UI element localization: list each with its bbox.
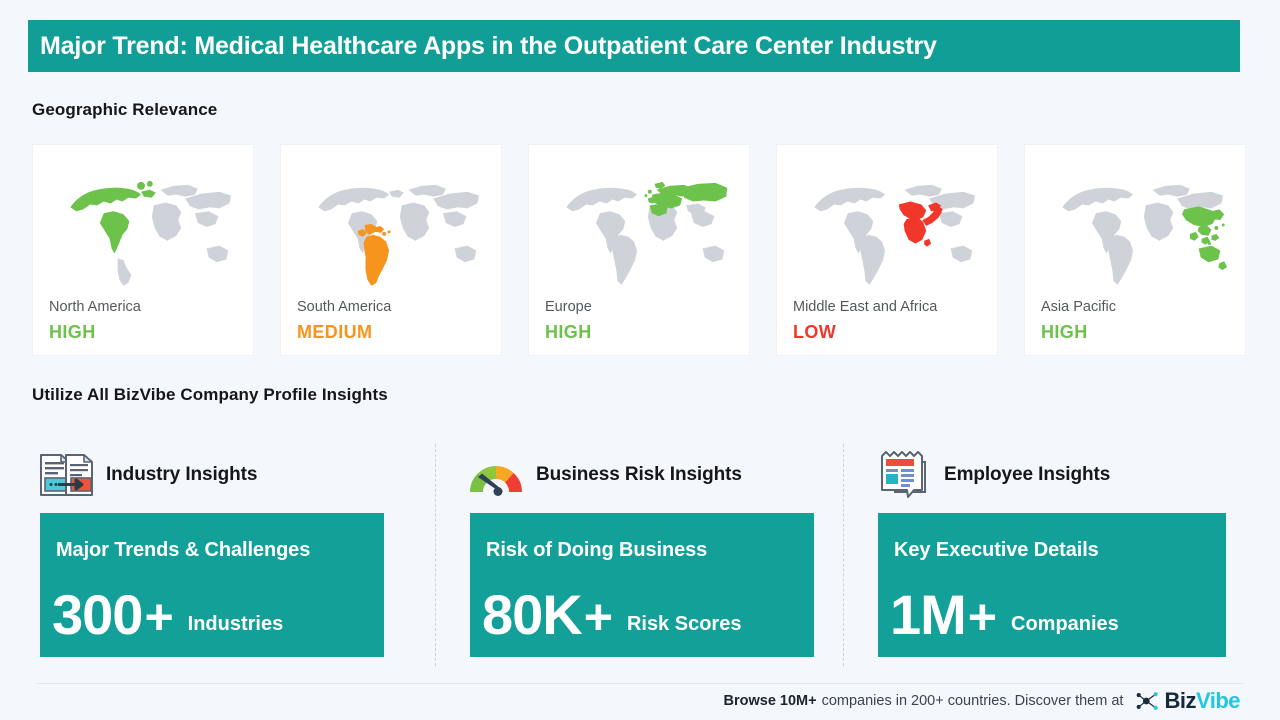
geo-card-region-label: Middle East and Africa bbox=[793, 299, 937, 315]
stat-number: 80K bbox=[482, 587, 582, 643]
stat-number: 300 bbox=[52, 587, 142, 643]
insight-header-industry: Industry Insights bbox=[34, 444, 435, 506]
geo-card-relevance-value: LOW bbox=[793, 322, 836, 343]
stat-box-key-executive-details[interactable]: Key Executive Details 1M + Companies bbox=[878, 513, 1226, 657]
stat-plus-sign: + bbox=[584, 592, 613, 642]
footer-promo: Browse 10M+ companies in 200+ countries.… bbox=[724, 688, 1241, 714]
stat-unit-label: Companies bbox=[1011, 613, 1119, 636]
stat-caption: Key Executive Details bbox=[894, 539, 1099, 562]
stat-box-industry-trends[interactable]: Major Trends & Challenges 300 + Industri… bbox=[40, 513, 384, 657]
bizvibe-logo[interactable]: Biz Vibe bbox=[1135, 688, 1240, 714]
geographic-relevance-card-row: North America HIGH bbox=[32, 144, 1248, 356]
stat-unit-label: Industries bbox=[188, 613, 284, 636]
page-title: Major Trend: Medical Healthcare Apps in … bbox=[28, 32, 937, 61]
world-map-middle-east-africa-icon bbox=[789, 159, 985, 293]
world-map-asia-pacific-icon bbox=[1037, 159, 1233, 293]
stat-box-risk-of-doing-business[interactable]: Risk of Doing Business 80K + Risk Scores bbox=[470, 513, 814, 657]
stat-plus-sign: + bbox=[968, 592, 997, 642]
geo-card-asia-pacific[interactable]: Asia Pacific HIGH bbox=[1024, 144, 1246, 356]
stat-caption: Risk of Doing Business bbox=[486, 539, 707, 562]
company-profile-insights-heading: Utilize All BizVibe Company Profile Insi… bbox=[32, 385, 388, 405]
insight-header-business-risk: Business Risk Insights bbox=[464, 444, 843, 506]
network-nodes-icon bbox=[1135, 690, 1161, 712]
insight-title-employee: Employee Insights bbox=[944, 464, 1110, 486]
geo-card-region-label: South America bbox=[297, 299, 391, 315]
notepad-comment-icon bbox=[874, 449, 934, 501]
logo-text-biz: Biz bbox=[1164, 688, 1196, 714]
stat-figure: 1M + Companies bbox=[890, 587, 1119, 643]
insight-title-business-risk: Business Risk Insights bbox=[536, 464, 742, 486]
geo-card-region-label: Europe bbox=[545, 299, 592, 315]
geo-card-relevance-value: HIGH bbox=[1041, 322, 1088, 343]
geo-card-region-label: North America bbox=[49, 299, 141, 315]
geo-card-relevance-value: HIGH bbox=[545, 322, 592, 343]
world-map-north-america-icon bbox=[45, 159, 241, 293]
logo-text-vibe: Vibe bbox=[1196, 688, 1240, 714]
footer-description: companies in 200+ countries. Discover th… bbox=[822, 693, 1124, 709]
insight-column-employee: Employee Insights Key Executive Details … bbox=[844, 444, 1252, 666]
stat-number: 1M bbox=[890, 587, 966, 643]
world-map-europe-icon bbox=[541, 159, 737, 293]
geo-card-region-label: Asia Pacific bbox=[1041, 299, 1116, 315]
geo-card-south-america[interactable]: South America MEDIUM bbox=[280, 144, 502, 356]
documents-arrow-icon bbox=[36, 449, 96, 501]
insight-header-employee: Employee Insights bbox=[872, 444, 1252, 506]
geographic-relevance-heading: Geographic Relevance bbox=[32, 100, 217, 120]
world-map-south-america-icon bbox=[293, 159, 489, 293]
stat-plus-sign: + bbox=[144, 592, 173, 642]
geo-card-europe[interactable]: Europe HIGH bbox=[528, 144, 750, 356]
geo-card-relevance-value: HIGH bbox=[49, 322, 96, 343]
insight-title-industry: Industry Insights bbox=[106, 464, 257, 486]
stat-unit-label: Risk Scores bbox=[627, 613, 742, 636]
stat-figure: 80K + Risk Scores bbox=[482, 587, 741, 643]
footer-divider bbox=[36, 683, 1244, 684]
page-header-bar: Major Trend: Medical Healthcare Apps in … bbox=[28, 20, 1240, 72]
insight-column-industry: Industry Insights Major Trends & Challen… bbox=[28, 444, 436, 666]
footer-browse-count: Browse 10M+ bbox=[724, 693, 817, 709]
stat-caption: Major Trends & Challenges bbox=[56, 539, 310, 562]
geo-card-middle-east-africa[interactable]: Middle East and Africa LOW bbox=[776, 144, 998, 356]
insights-column-row: Industry Insights Major Trends & Challen… bbox=[28, 444, 1252, 666]
insight-column-business-risk: Business Risk Insights Risk of Doing Bus… bbox=[436, 444, 844, 666]
risk-gauge-icon bbox=[466, 449, 526, 501]
geo-card-relevance-value: MEDIUM bbox=[297, 322, 372, 343]
stat-figure: 300 + Industries bbox=[52, 587, 283, 643]
geo-card-north-america[interactable]: North America HIGH bbox=[32, 144, 254, 356]
